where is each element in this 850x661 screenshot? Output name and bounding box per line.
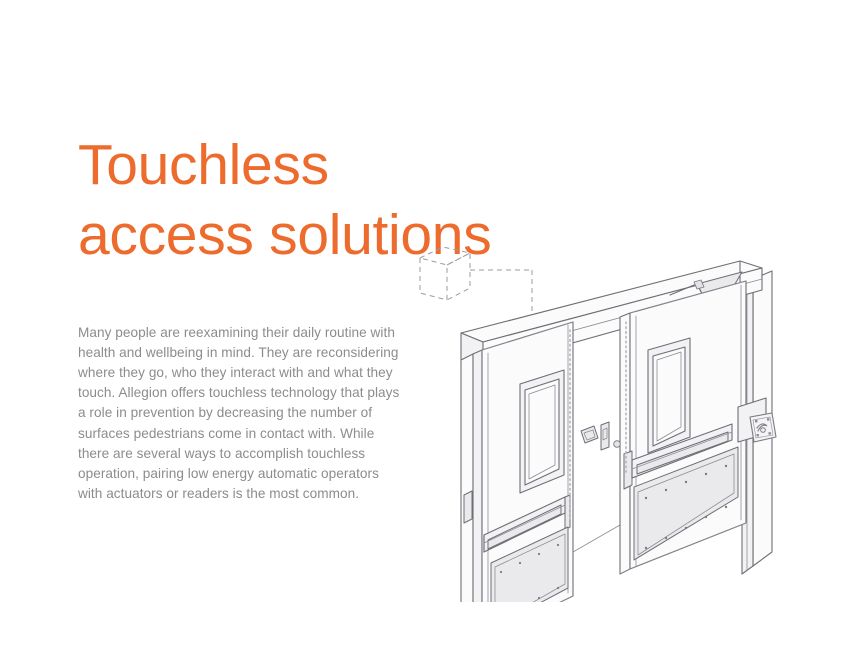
wall-push-plate-actuator-svg (746, 411, 780, 447)
left-door-hinge (464, 491, 472, 523)
lockset-card-reader (581, 422, 620, 450)
center-leader-line (573, 525, 620, 552)
actuator-corner-screw-bl (757, 434, 759, 436)
door-illustration-svg: .ln { fill:none; stroke:#6e6e76; stroke-… (398, 222, 802, 602)
door-illustration: .ln { fill:none; stroke:#6e6e76; stroke-… (398, 222, 802, 602)
body-paragraph: Many people are reexamining their daily … (78, 323, 400, 505)
right-door-leaf (620, 281, 746, 574)
left-door-leaf (461, 322, 573, 602)
actuator-corner-screw-tl (755, 420, 757, 422)
actuator-corner-screw-br (769, 432, 771, 434)
actuator-corner-screw-tr (767, 418, 769, 420)
left-vision-lite (520, 370, 564, 493)
right-vision-lite (648, 338, 690, 453)
wall-push-plate-actuator (746, 411, 780, 447)
ghost-operator-box (420, 247, 532, 322)
brochure-page: Touchless access solutions Many people a… (0, 0, 850, 661)
